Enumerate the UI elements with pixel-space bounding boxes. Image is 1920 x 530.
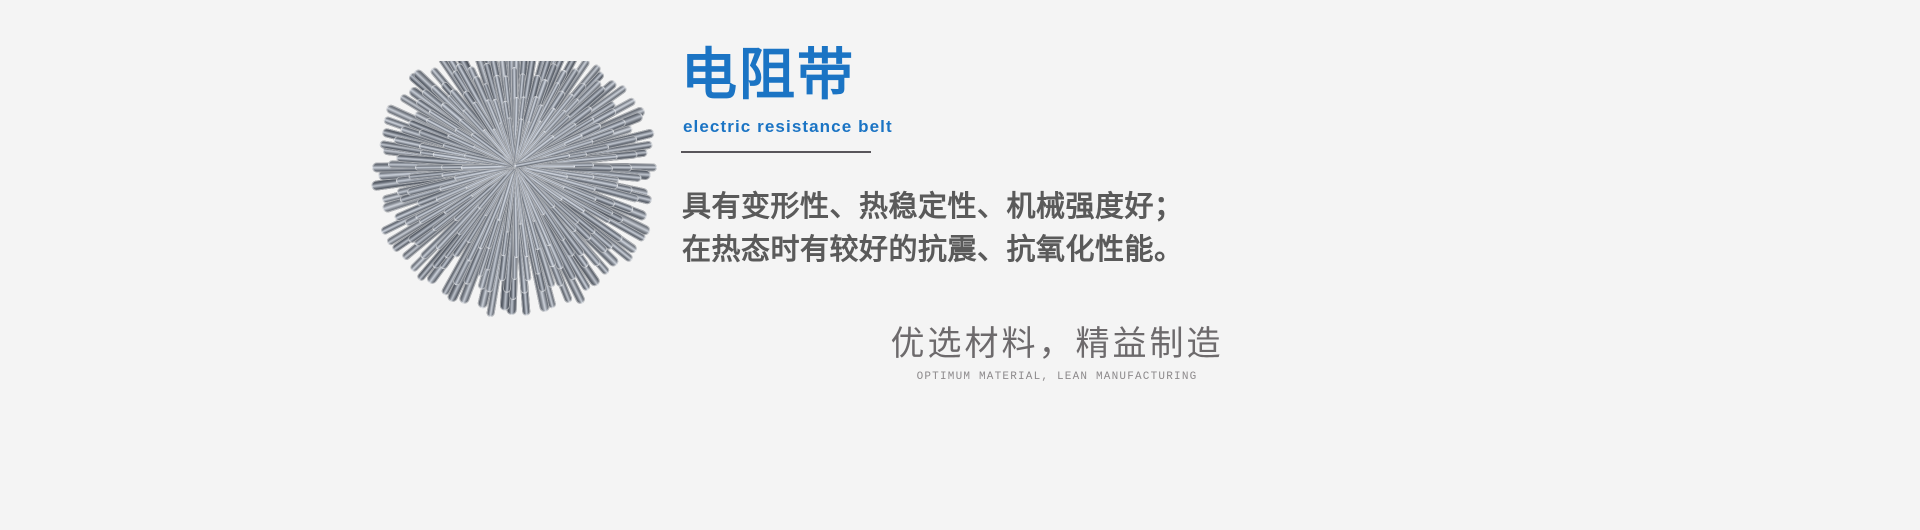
tagline-block: 优选材料，精益制造 OPTIMUM MATERIAL, LEAN MANUFAC… bbox=[777, 322, 1337, 384]
page-subtitle: electric resistance belt bbox=[683, 116, 893, 138]
page-title: 电阻带 bbox=[681, 44, 855, 106]
tagline-cn: 优选材料，精益制造 bbox=[777, 322, 1337, 366]
description-line: 在热态时有较好的抗震、抗氧化性能。 bbox=[682, 229, 1442, 272]
product-image bbox=[340, 61, 690, 406]
product-banner: 电阻带 electric resistance belt 具有变形性、热稳定性、… bbox=[0, 0, 1920, 530]
description-list: 具有变形性、热稳定性、机械强度好； 在热态时有较好的抗震、抗氧化性能。 bbox=[682, 186, 1442, 272]
description-line: 具有变形性、热稳定性、机械强度好； bbox=[682, 186, 1442, 229]
banner-content: 电阻带 electric resistance belt 具有变形性、热稳定性、… bbox=[681, 0, 1481, 530]
tagline-en: OPTIMUM MATERIAL, LEAN MANUFACTURING bbox=[777, 370, 1337, 384]
resistance-belt-illustration bbox=[340, 61, 690, 406]
title-divider bbox=[681, 151, 871, 153]
